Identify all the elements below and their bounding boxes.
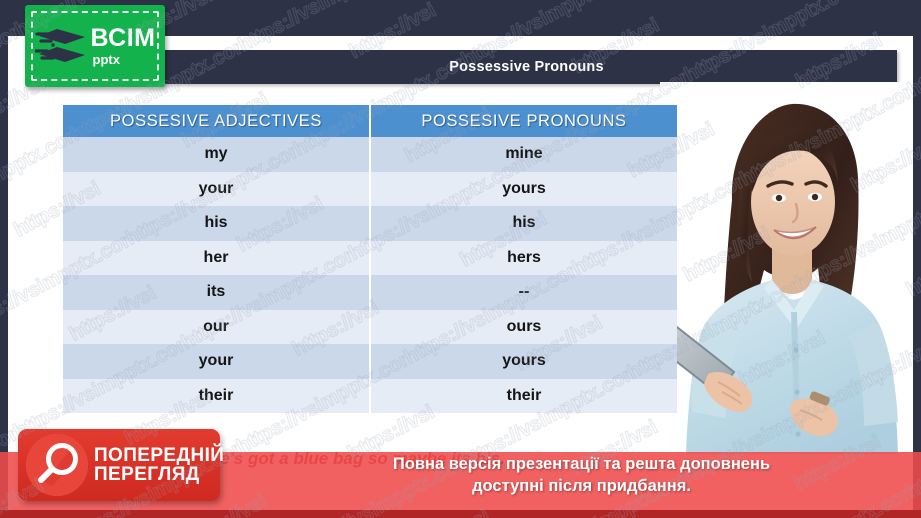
cell-adjective: our xyxy=(63,310,370,345)
cell-adjective: its xyxy=(63,275,370,310)
table-row: your yours xyxy=(63,344,677,379)
table-row: my mine xyxy=(63,137,677,172)
slide-preview: Possessive Pronouns xyxy=(0,0,921,518)
cell-adjective: his xyxy=(63,206,370,241)
preview-badge: ПОПЕРЕДНІЙ ПЕРЕГЛЯД xyxy=(18,429,220,501)
cell-pronoun: ours xyxy=(370,310,677,345)
cell-adjective: my xyxy=(63,137,370,172)
cell-pronoun: yours xyxy=(370,172,677,207)
promo-line-1: Повна версія презентації та решта доповн… xyxy=(393,455,770,473)
cell-pronoun: mine xyxy=(370,137,677,172)
pronouns-table: POSSESIVE ADJECTIVES POSSESIVE PRONOUNS … xyxy=(63,105,677,413)
cell-pronoun: hers xyxy=(370,241,677,276)
slide-title-bar: Possessive Pronouns xyxy=(156,50,897,84)
table-row: his his xyxy=(63,206,677,241)
badge-line-2: ПЕРЕГЛЯД xyxy=(94,465,224,484)
promo-bottom-strip xyxy=(0,510,921,518)
cell-pronoun: his xyxy=(370,206,677,241)
cell-adjective: your xyxy=(63,172,370,207)
table-row: their their xyxy=(63,379,677,414)
table-row: your yours xyxy=(63,172,677,207)
cell-pronoun: their xyxy=(370,379,677,414)
graduation-cap-icon xyxy=(35,23,87,69)
logo-suffix: pptx xyxy=(93,53,120,66)
cell-adjective: their xyxy=(63,379,370,414)
brand-logo: ВСІМ pptx xyxy=(25,5,165,87)
cell-pronoun: -- xyxy=(370,275,677,310)
column-header-adjectives: POSSESIVE ADJECTIVES xyxy=(63,105,370,137)
table-row: her hers xyxy=(63,241,677,276)
magnifier-icon xyxy=(26,434,88,496)
column-header-pronouns: POSSESIVE PRONOUNS xyxy=(370,105,677,137)
page-title: Possessive Pronouns xyxy=(449,59,604,75)
cell-adjective: your xyxy=(63,344,370,379)
table-row: its -- xyxy=(63,275,677,310)
woman-with-tablet-photo xyxy=(660,82,910,454)
cell-adjective: her xyxy=(63,241,370,276)
badge-line-1: ПОПЕРЕДНІЙ xyxy=(94,446,224,465)
cell-pronoun: yours xyxy=(370,344,677,379)
table-header-row: POSSESIVE ADJECTIVES POSSESIVE PRONOUNS xyxy=(63,105,677,137)
promo-line-2: доступні після придбання. xyxy=(250,475,913,497)
table-row: our ours xyxy=(63,310,677,345)
logo-name: ВСІМ xyxy=(91,26,156,51)
